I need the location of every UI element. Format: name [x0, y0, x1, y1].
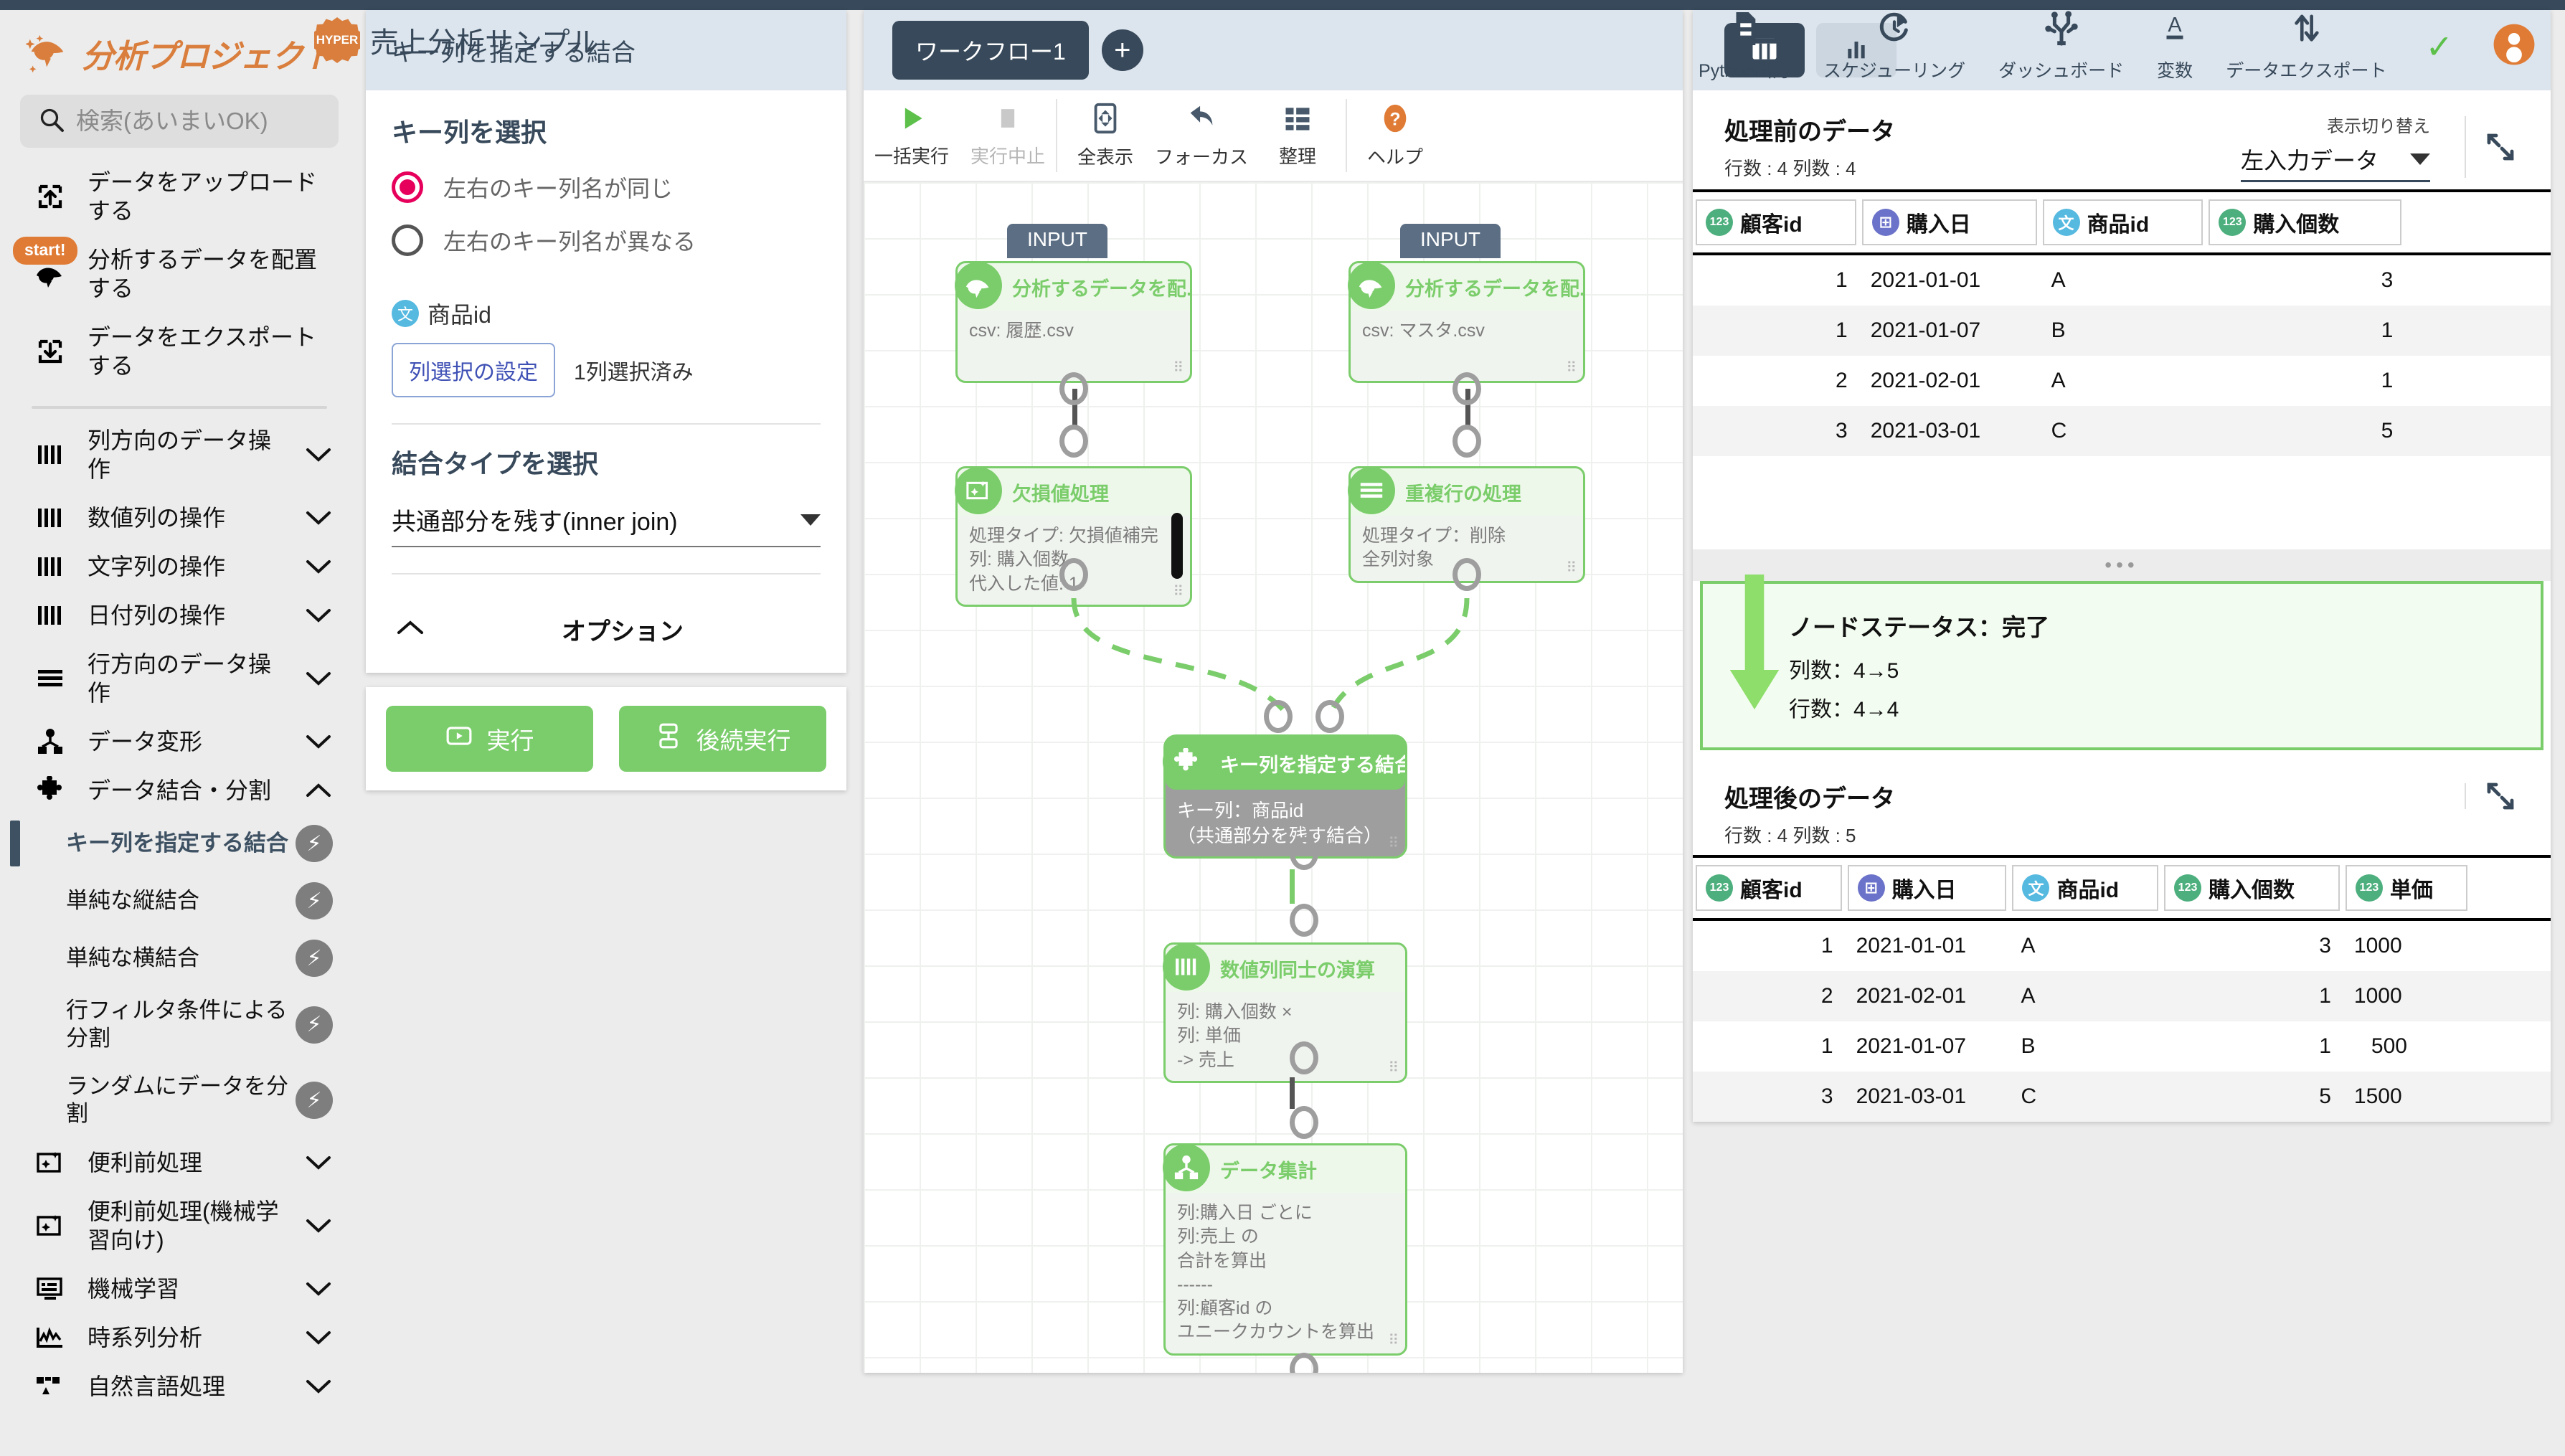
data-export-arrows-icon — [2290, 10, 2323, 51]
table-row: 3 2021-03-01 C 5 1500 — [1693, 1072, 2551, 1122]
whale-logo-icon — [26, 31, 70, 75]
sidebar-item-horizontal-concat[interactable]: 単純な横結合 ⚡ — [0, 930, 359, 987]
resize-grip-icon[interactable]: ⠿ — [1173, 359, 1184, 377]
date-type-icon: ⊞ — [1858, 874, 1885, 902]
toolbar-label: ヘルプ — [1367, 143, 1423, 169]
node-output-port[interactable] — [1290, 1041, 1318, 1074]
settings-divider — [392, 423, 821, 425]
dashboard-coral-icon — [2044, 10, 2079, 51]
node-header: 重複行の処理 — [1351, 468, 1583, 516]
node-title: 重複行の処理 — [1405, 478, 1521, 506]
node-body: 列: 購入個数 × 列: 単価 -> 売上 — [1166, 992, 1405, 1081]
tab-workflow-1[interactable]: ワークフロー1 — [892, 21, 1089, 80]
cell-spacer — [2470, 1021, 2551, 1072]
toolbar-label: フォーカス — [1155, 143, 1248, 169]
sidebar-group-label: 自然言語処理 — [88, 1372, 285, 1401]
canvas-toolbar: 一括実行 実行中止 全表示 — [864, 90, 1683, 182]
cell: 5 — [2161, 1072, 2343, 1122]
run-button[interactable]: 実行 — [386, 706, 593, 772]
sidebar-group-nlp[interactable]: 自然言語処理 — [0, 1362, 359, 1411]
svg-text:?: ? — [1389, 110, 1400, 130]
node-status-columns: 列数：4→5 — [1789, 653, 2541, 684]
node-scrollbar-thumb[interactable] — [1171, 513, 1183, 579]
before-header-controls: 表示切り替え 左入力データ — [2241, 112, 2519, 182]
table-header-row: 123顧客id ⊞購入日 文商品id 123購入個数 — [1693, 191, 2551, 254]
sidebar-item-place-data[interactable]: start! 分析するデータを配置する — [0, 235, 359, 313]
toolbar-group-run: 一括実行 実行中止 — [864, 90, 1056, 181]
cell-spacer — [2404, 306, 2551, 356]
node-status-title: ノードステータス：完了 — [1789, 608, 2541, 643]
col-header[interactable]: 123単価 — [2343, 856, 2471, 920]
brand-title: 分析プロジェクト — [82, 30, 334, 77]
cell: A — [2040, 254, 2206, 306]
variables-button[interactable]: A 変数 — [2157, 10, 2193, 82]
cell: A — [2040, 356, 2206, 406]
col-header-spacer — [2404, 191, 2551, 254]
node-status-rows: 行数：4→4 — [1789, 691, 2541, 723]
node-output-port[interactable] — [1452, 372, 1481, 405]
before-table-title: 処理前のデータ — [1724, 112, 1895, 147]
expand-after-table-button[interactable] — [2482, 779, 2519, 813]
node-box[interactable]: 分析するデータを配... csv: マスタ.csv ⠿ — [1348, 261, 1585, 383]
whale-icon — [1348, 262, 1395, 309]
chevron-down-icon — [304, 734, 333, 750]
toolbar-label: 一括実行 — [874, 142, 949, 169]
cell: A — [2009, 971, 2161, 1021]
options-toggle[interactable]: オプション — [392, 593, 821, 654]
node-box[interactable]: 数値列同士の演算 列: 購入個数 × 列: 単価 -> 売上 ⠿ — [1163, 942, 1407, 1083]
chevron-down-icon — [304, 608, 333, 623]
node-missing-values[interactable]: 欠損値処理 処理タイプ: 欠損値補完 列: 購入個数 代入した値: 1 ⠿ — [955, 466, 1192, 607]
sidebar-group-column-ops[interactable]: 列方向のデータ操作 — [0, 416, 359, 493]
sidebar-group-convenient-preprocess[interactable]: 便利前処理 — [0, 1138, 359, 1187]
sidebar-sub-label: 単純な縦結合 — [66, 887, 296, 915]
sidebar-sub-label: 単純な横結合 — [66, 945, 296, 973]
node-title: 欠損値処理 — [1012, 478, 1109, 506]
sidebar-item-row-filter-split[interactable]: 行フィルタ条件による分割 ⚡ — [0, 987, 359, 1063]
sidebar-group-label: 行方向のデータ操作 — [88, 650, 285, 707]
resize-grip-icon[interactable]: ⠿ — [1173, 582, 1184, 600]
toolbar-label: 実行中止 — [970, 142, 1045, 169]
resize-grip-icon[interactable]: ⠿ — [1388, 834, 1399, 852]
toolbar-label: Python出力 — [1699, 57, 1790, 82]
col-header-label: 購入個数 — [2209, 872, 2295, 904]
timeseries-icon — [32, 1325, 69, 1350]
node-header: キー列を指定する結合 — [1166, 737, 1405, 790]
svg-text:A: A — [2168, 14, 2183, 37]
column-select-note: 1列選択済み — [574, 354, 694, 386]
hyper-badge: HYPER — [314, 17, 360, 63]
user-avatar-icon[interactable] — [2492, 22, 2536, 70]
node-key-join[interactable]: キー列を指定する結合 キー列：商品id （共通部分を残す結合） ⠿ — [1163, 734, 1407, 859]
resize-grip-icon[interactable]: ⠿ — [1388, 1059, 1399, 1077]
node-body: 列:購入日 ごとに 列:売上 の 合計を算出 ------ 列:顧客id の ユ… — [1166, 1193, 1405, 1353]
table-row: 1 2021-01-01 A 3 — [1693, 254, 2551, 306]
cell-spacer — [2404, 356, 2551, 406]
node-header: 数値列同士の演算 — [1166, 945, 1405, 992]
node-numeric-op[interactable]: 数値列同士の演算 列: 購入個数 × 列: 単価 -> 売上 ⠿ — [1163, 942, 1407, 1083]
resize-grip-icon[interactable]: ⠿ — [1388, 1331, 1399, 1349]
brand-area: 分析プロジェクト — [0, 10, 359, 90]
cell: 1 — [2161, 971, 2343, 1021]
rows-icon — [32, 668, 69, 689]
settings-panel: キー列を指定する結合 キー列を選択 左右のキー列名が同じ 左右のキー列名が異なる… — [359, 10, 854, 1456]
sidebar-group-date-ops[interactable]: 日付列の操作 — [0, 591, 359, 640]
table-row: 3 2021-03-01 C 5 — [1693, 406, 2551, 456]
sidebar-sub-label: ランダムにデータを分割 — [66, 1073, 296, 1129]
magic-icon — [32, 1213, 69, 1239]
cell: 500 — [2343, 1021, 2471, 1072]
cell: 1500 — [2343, 1072, 2471, 1122]
download-box-icon — [32, 336, 69, 367]
cell: 1 — [1693, 920, 1845, 971]
upload-box-icon — [32, 181, 69, 212]
after-header-controls — [2449, 779, 2519, 813]
sidebar-item-label: データをアップロードする — [88, 168, 333, 225]
magic-icon — [955, 467, 1002, 514]
col-header[interactable]: ⊞購入日 — [1859, 191, 2040, 254]
cell: 1 — [1693, 254, 1859, 306]
scheduling-button[interactable]: スケジューリング — [1823, 10, 1965, 82]
node-input-left[interactable]: INPUT 分析するデータを配... csv: 履歴.csv ⠿ — [955, 261, 1192, 383]
options-label: オプション — [562, 612, 684, 647]
columns-icon — [32, 506, 69, 530]
chevron-down-icon — [304, 447, 333, 463]
columns-icon — [32, 603, 69, 628]
node-header: 分析するデータを配... — [958, 263, 1190, 311]
node-input-port[interactable] — [1059, 425, 1088, 458]
node-output-port[interactable] — [1059, 558, 1088, 591]
sidebar-group-label: データ変形 — [88, 727, 285, 756]
node-input-port-right[interactable] — [1315, 700, 1344, 733]
sidebar-group-convenient-preprocess-ml[interactable]: 便利前処理(機械学習向け) — [0, 1187, 359, 1264]
node-box[interactable]: キー列を指定する結合 キー列：商品id （共通部分を残す結合） ⠿ — [1163, 734, 1407, 859]
add-workflow-button[interactable]: + — [1102, 29, 1143, 71]
node-output-port[interactable] — [1290, 1353, 1318, 1373]
cell: 2021-02-01 — [1859, 356, 2040, 406]
number-type-icon: 123 — [2356, 874, 2383, 902]
app-root: 分析プロジェクト データをアップロードする start! 分析するデータを配置す… — [0, 10, 2565, 1456]
workflow-canvas-panel: ワークフロー1 + 一括実行 実行中止 — [854, 10, 1693, 1456]
radio-button-on[interactable] — [392, 171, 423, 203]
project-title-area: HYPER 売上分析サンプル — [308, 17, 599, 63]
table-row: 2 2021-02-01 A 1 1000 — [1693, 971, 2551, 1021]
cell: 3 — [1693, 1072, 1845, 1122]
string-type-icon: 文 — [392, 300, 419, 327]
run-button-label: 実行 — [487, 722, 534, 756]
col-header[interactable]: 文商品id — [2009, 856, 2161, 920]
cell: 1 — [2161, 1021, 2343, 1072]
col-header[interactable]: 123顧客id — [1693, 191, 1859, 254]
node-body: csv: 履歴.csv — [958, 311, 1190, 351]
sidebar-group-numeric-ops[interactable]: 数値列の操作 — [0, 493, 359, 542]
radio-different-key-name[interactable]: 左右のキー列名が異なる — [392, 224, 821, 257]
string-type-icon: 文 — [2022, 874, 2049, 902]
sidebar-group-label: 時系列分析 — [88, 1323, 285, 1352]
lightning-icon: ⚡ — [296, 882, 333, 920]
chevron-down-icon — [304, 1281, 333, 1297]
table-row: 2 2021-02-01 A 1 — [1693, 356, 2551, 406]
node-aggregate[interactable]: データ集計 列:購入日 ごとに 列:売上 の 合計を算出 ------ 列:顧客… — [1163, 1143, 1407, 1356]
column-select-button[interactable]: 列選択の設定 — [392, 343, 555, 397]
cell-spacer — [2404, 254, 2551, 306]
number-type-icon: 123 — [2174, 874, 2201, 902]
node-input-port[interactable] — [1290, 1106, 1318, 1139]
display-switcher-label: 表示切り替え — [2241, 112, 2430, 137]
left-sidebar: 分析プロジェクト データをアップロードする start! 分析するデータを配置す… — [0, 10, 359, 1456]
sidebar-item-label: データをエクスポートする — [88, 323, 333, 380]
selected-key-column: 文 商品id — [392, 297, 821, 330]
before-table-padding — [1693, 456, 2551, 549]
run-downstream-label: 後続実行 — [696, 722, 791, 756]
col-header-label: 購入個数 — [2253, 207, 2339, 238]
after-table-meta: 行数 : 4 列数 : 5 — [1724, 821, 1895, 848]
dashboard-button[interactable]: ダッシュボード — [1998, 10, 2124, 82]
key-column-name: 商品id — [427, 297, 491, 330]
data-export-button[interactable]: データエクスポート — [2226, 10, 2386, 82]
radio-label: 左右のキー列名が同じ — [443, 171, 673, 204]
lightning-icon: ⚡ — [296, 825, 333, 862]
magic-icon — [32, 1150, 69, 1176]
col-header-label: 購入日 — [1892, 872, 1957, 904]
col-header-label: 商品id — [2087, 207, 2150, 238]
join-type-section-title: 結合タイプを選択 — [392, 443, 821, 481]
node-dedupe[interactable]: 重複行の処理 処理タイプ：削除 全列対象 ⠿ — [1348, 466, 1585, 583]
chevron-down-icon — [304, 1155, 333, 1171]
cell: 3 — [2161, 920, 2343, 971]
sidebar-sub-label: キー列を指定する結合 — [66, 830, 296, 858]
variable-a-icon: A — [2158, 10, 2191, 51]
tidy-button[interactable]: 整理 — [1250, 103, 1346, 169]
cell: 2021-01-07 — [1845, 1021, 2010, 1072]
cell: A — [2009, 920, 2161, 971]
node-output-port[interactable] — [1452, 558, 1481, 591]
sidebar-group-label: 便利前処理(機械学習向け) — [88, 1197, 285, 1254]
cell: B — [2040, 306, 2206, 356]
columns-icon — [32, 443, 69, 467]
number-type-icon: 123 — [1706, 209, 1733, 236]
chevron-down-icon — [304, 1218, 333, 1234]
lightning-icon: ⚡ — [296, 1006, 333, 1044]
cell: 1 — [2206, 306, 2404, 356]
toolbar-label: スケジューリング — [1823, 57, 1965, 82]
run-downstream-button[interactable]: 後続実行 — [619, 706, 826, 772]
before-table-titles: 処理前のデータ 行数 : 4 列数 : 4 — [1724, 112, 1895, 181]
display-switcher-value: 左入力データ — [2241, 143, 2379, 176]
project-title: 売上分析サンプル — [370, 19, 599, 61]
sidebar-sub-label: 行フィルタ条件による分割 — [66, 997, 296, 1053]
cell: C — [2009, 1072, 2161, 1122]
col-header-label: 顧客id — [1740, 872, 1803, 904]
window-topbar — [0, 0, 2565, 10]
col-header[interactable]: ⊞購入日 — [1845, 856, 2010, 920]
number-type-icon: 123 — [1706, 874, 1733, 902]
after-table-title: 処理後のデータ — [1724, 779, 1895, 814]
cell-spacer — [2404, 406, 2551, 456]
sidebar-group-label: 便利前処理 — [88, 1148, 285, 1177]
chevron-down-icon — [304, 510, 333, 526]
node-output-port[interactable] — [1290, 837, 1318, 870]
columns-icon — [1163, 943, 1210, 991]
toolbar-label: 全表示 — [1077, 143, 1133, 169]
stop-run-button[interactable]: 実行中止 — [960, 103, 1056, 169]
chevron-down-icon — [304, 1379, 333, 1394]
search-box[interactable] — [20, 95, 339, 148]
table-header-row: 123顧客id ⊞購入日 文商品id 123購入個数 123単価 — [1693, 856, 2551, 920]
search-input[interactable] — [76, 108, 320, 135]
node-body: csv: マスタ.csv — [1351, 311, 1583, 351]
transform-icon — [1163, 1144, 1210, 1191]
cell: 2021-02-01 — [1845, 971, 2010, 1021]
table-row: 1 2021-01-07 B 1 — [1693, 306, 2551, 356]
before-table-header: 処理前のデータ 行数 : 4 列数 : 4 表示切り替え 左入力データ — [1693, 90, 2551, 189]
cell: 1 — [1693, 1021, 1845, 1072]
sidebar-item-vertical-concat[interactable]: 単純な縦結合 ⚡ — [0, 872, 359, 930]
columns-icon — [32, 554, 69, 579]
tidy-grid-icon — [1282, 103, 1313, 138]
sidebar-group-join-split[interactable]: データ結合・分割 — [0, 766, 359, 815]
resize-grip-icon[interactable]: ⠿ — [1566, 359, 1577, 377]
sidebar-divider — [32, 406, 327, 409]
canvas-card: ワークフロー1 + 一括実行 実行中止 — [864, 10, 1683, 1373]
help-question-icon: ? — [1379, 102, 1412, 138]
key-column-section-title: キー列を選択 — [392, 112, 821, 149]
after-table-titles: 処理後のデータ 行数 : 4 列数 : 5 — [1724, 779, 1895, 848]
col-header[interactable]: 123購入個数 — [2206, 191, 2404, 254]
node-box[interactable]: 分析するデータを配... csv: 履歴.csv ⠿ — [955, 261, 1192, 383]
sidebar-item-upload-data[interactable]: データをアップロードする — [0, 158, 359, 235]
col-header[interactable]: 文商品id — [2040, 191, 2206, 254]
node-title: 数値列同士の演算 — [1220, 955, 1375, 983]
puzzle-icon — [32, 776, 69, 805]
canvas-area[interactable]: INPUT 分析するデータを配... csv: 履歴.csv ⠿ — [864, 182, 1683, 1373]
search-icon — [39, 107, 65, 136]
sidebar-group-machine-learning[interactable]: 機械学習 — [0, 1264, 359, 1313]
panel-resize-handle[interactable]: ••• — [1693, 549, 2551, 581]
node-header: 分析するデータを配... — [1351, 263, 1583, 311]
python-export-button[interactable]: Python出力 — [1699, 10, 1790, 82]
node-input-port-left[interactable] — [1264, 700, 1293, 733]
node-input-tag: INPUT — [1400, 224, 1501, 258]
chevron-down-icon — [304, 671, 333, 686]
play-icon — [896, 103, 927, 138]
after-table-header: 処理後のデータ 行数 : 4 列数 : 5 — [1693, 750, 2551, 855]
join-type-value: 共通部分を残す(inner join) — [392, 502, 678, 537]
data-preview-panel: 処理前のデータ 行数 : 4 列数 : 4 表示切り替え 左入力データ — [1693, 10, 2551, 1456]
settings-divider-2 — [392, 573, 821, 575]
chevron-up-icon — [304, 783, 333, 798]
fit-all-button[interactable]: 全表示 — [1057, 102, 1153, 169]
cell: 2021-03-01 — [1845, 1072, 2010, 1122]
after-data-table: 123顧客id ⊞購入日 文商品id 123購入個数 123単価 1 2021-… — [1693, 855, 2551, 1122]
schedule-clock-icon — [1876, 10, 1912, 51]
chevron-down-icon — [304, 559, 333, 575]
node-box[interactable]: データ集計 列:購入日 ごとに 列:売上 の 合計を算出 ------ 列:顧客… — [1163, 1143, 1407, 1356]
cell: 2 — [1693, 971, 1845, 1021]
settings-card: キー列を指定する結合 キー列を選択 左右のキー列名が同じ 左右のキー列名が異なる… — [366, 10, 846, 673]
edge-join-to-numeric — [1290, 869, 1295, 904]
node-header: データ集計 — [1166, 1145, 1405, 1193]
sidebar-group-timeseries[interactable]: 時系列分析 — [0, 1313, 359, 1362]
cell: 1000 — [2343, 971, 2471, 1021]
sidebar-group-label: 機械学習 — [88, 1275, 285, 1303]
cell: 2021-03-01 — [1859, 406, 2040, 456]
table-row: 1 2021-01-01 A 3 1000 — [1693, 920, 2551, 971]
run-buttons-card: 実行 後続実行 — [366, 687, 846, 790]
cell: 1000 — [2343, 920, 2471, 971]
string-type-icon: 文 — [2053, 209, 2080, 236]
node-title: 分析するデータを配... — [1405, 273, 1583, 301]
sidebar-group-row-ops[interactable]: 行方向のデータ操作 — [0, 640, 359, 717]
data-card: 処理前のデータ 行数 : 4 列数 : 4 表示切り替え 左入力データ — [1693, 10, 2551, 1122]
expand-before-table-button[interactable] — [2482, 130, 2519, 164]
col-header-label: 単価 — [2390, 872, 2433, 904]
sidebar-item-export-data[interactable]: データをエクスポートする — [0, 313, 359, 390]
radio-label: 左右のキー列名が異なる — [443, 224, 696, 257]
status-arrow-icon — [1727, 571, 1782, 714]
sidebar-item-key-join[interactable]: キー列を指定する結合 ⚡ — [0, 815, 359, 872]
status-check-icon: ✓ — [2425, 27, 2453, 66]
col-header[interactable]: 123購入個数 — [2161, 856, 2343, 920]
node-output-port[interactable] — [1059, 372, 1088, 405]
cell: 2021-01-07 — [1859, 306, 2040, 356]
sidebar-group-label: 列方向のデータ操作 — [88, 426, 285, 483]
cell: 2 — [1693, 356, 1859, 406]
radio-same-key-name[interactable]: 左右のキー列名が同じ — [392, 171, 821, 204]
chevron-down-icon — [2410, 153, 2430, 165]
col-header[interactable]: 123顧客id — [1693, 856, 1845, 920]
ml-icon — [32, 1277, 69, 1301]
transform-icon — [32, 728, 69, 755]
cell: 3 — [1693, 406, 1859, 456]
join-type-select[interactable]: 共通部分を残す(inner join) — [392, 502, 821, 547]
start-badge: start! — [13, 237, 77, 265]
toolbar-label: データエクスポート — [2226, 57, 2386, 82]
stop-icon — [992, 103, 1024, 138]
run-all-button[interactable]: 一括実行 — [864, 103, 960, 169]
lightning-icon: ⚡ — [296, 1082, 333, 1119]
node-title: キー列を指定する結合 — [1220, 750, 1405, 777]
before-table-meta: 行数 : 4 列数 : 4 — [1724, 154, 1895, 181]
node-input-right[interactable]: INPUT 分析するデータを配... csv: マスタ.csv ⠿ — [1348, 261, 1585, 383]
cell: 2021-01-01 — [1859, 254, 2040, 306]
node-input-port[interactable] — [1452, 425, 1481, 458]
toolbar-label: 整理 — [1279, 142, 1316, 169]
focus-arrow-icon — [1185, 102, 1218, 138]
sidebar-item-random-split[interactable]: ランダムにデータを分割 ⚡ — [0, 1063, 359, 1139]
node-input-port[interactable] — [1290, 904, 1318, 937]
help-button[interactable]: ? ヘルプ — [1347, 102, 1443, 169]
chevron-down-icon — [800, 514, 821, 526]
display-switcher-value-row[interactable]: 左入力データ — [2241, 143, 2430, 182]
sidebar-group-transform[interactable]: データ変形 — [0, 717, 359, 766]
header-divider — [2465, 116, 2466, 178]
node-header: 欠損値処理 — [958, 468, 1190, 516]
node-title: データ集計 — [1220, 1155, 1317, 1183]
cell: 3 — [2206, 254, 2404, 306]
lightning-icon: ⚡ — [296, 940, 333, 977]
radio-button-off[interactable] — [392, 224, 423, 256]
node-input-tag: INPUT — [1007, 224, 1107, 258]
resize-grip-icon[interactable]: ⠿ — [1566, 559, 1577, 577]
toolbar-group-help: ? ヘルプ — [1347, 90, 1443, 181]
node-body: キー列：商品id （共通部分を残す結合） — [1166, 790, 1405, 856]
sidebar-group-string-ops[interactable]: 文字列の操作 — [0, 542, 359, 591]
cell-spacer — [2470, 920, 2551, 971]
edge-numeric-to-aggregate — [1290, 1077, 1295, 1109]
focus-button[interactable]: フォーカス — [1153, 102, 1250, 169]
display-switcher[interactable]: 表示切り替え 左入力データ — [2241, 112, 2430, 182]
